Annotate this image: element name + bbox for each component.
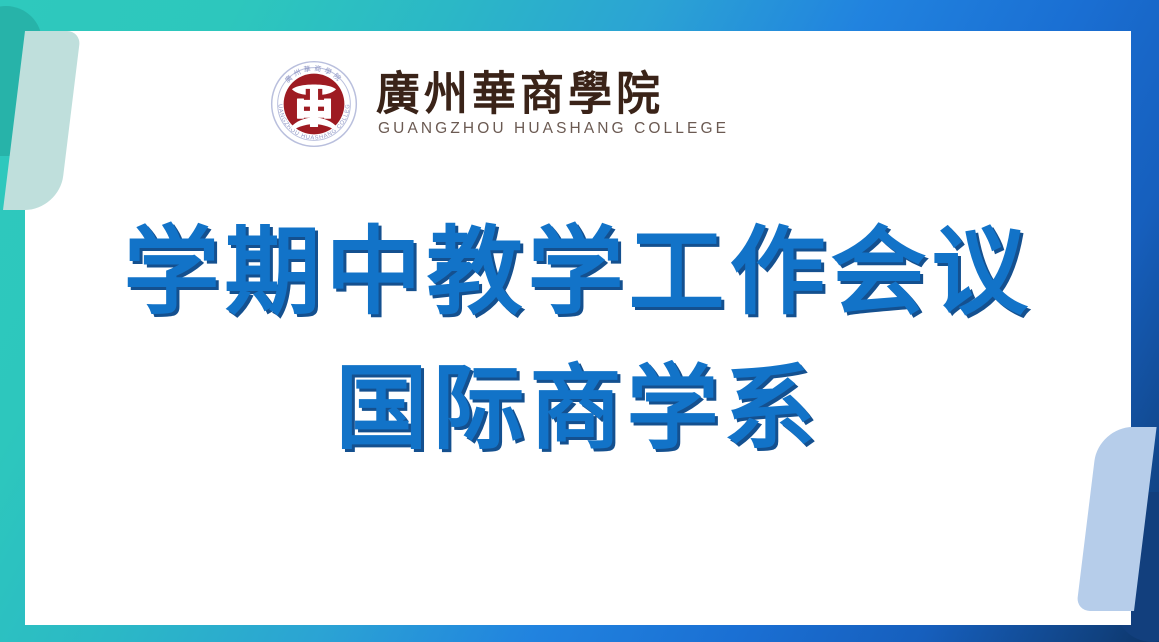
title-line-primary: 学期中教学工作会议 [25,215,1131,328]
university-wordmark: 廣州華商學院 GUANGZHOU HUASHANG COLLEGE [376,70,729,139]
university-seal-icon: 廣州華商學院 GUANGZHOU HUASHANG COLLEGE [268,58,360,150]
wordmark-english: GUANGZHOU HUASHANG COLLEGE [376,120,729,138]
wordmark-chinese: 廣州華商學院 [376,71,729,119]
university-logo: 廣州華商學院 GUANGZHOU HUASHANG COLLEGE [268,44,750,164]
presentation-slide: 廣州華商學院 GUANGZHOU HUASHANG COLLEGE [0,0,1159,642]
title-line-secondary: 国际商学系 [25,354,1131,463]
slide-headline: 学期中教学工作会议 国际商学系 [25,215,1131,463]
